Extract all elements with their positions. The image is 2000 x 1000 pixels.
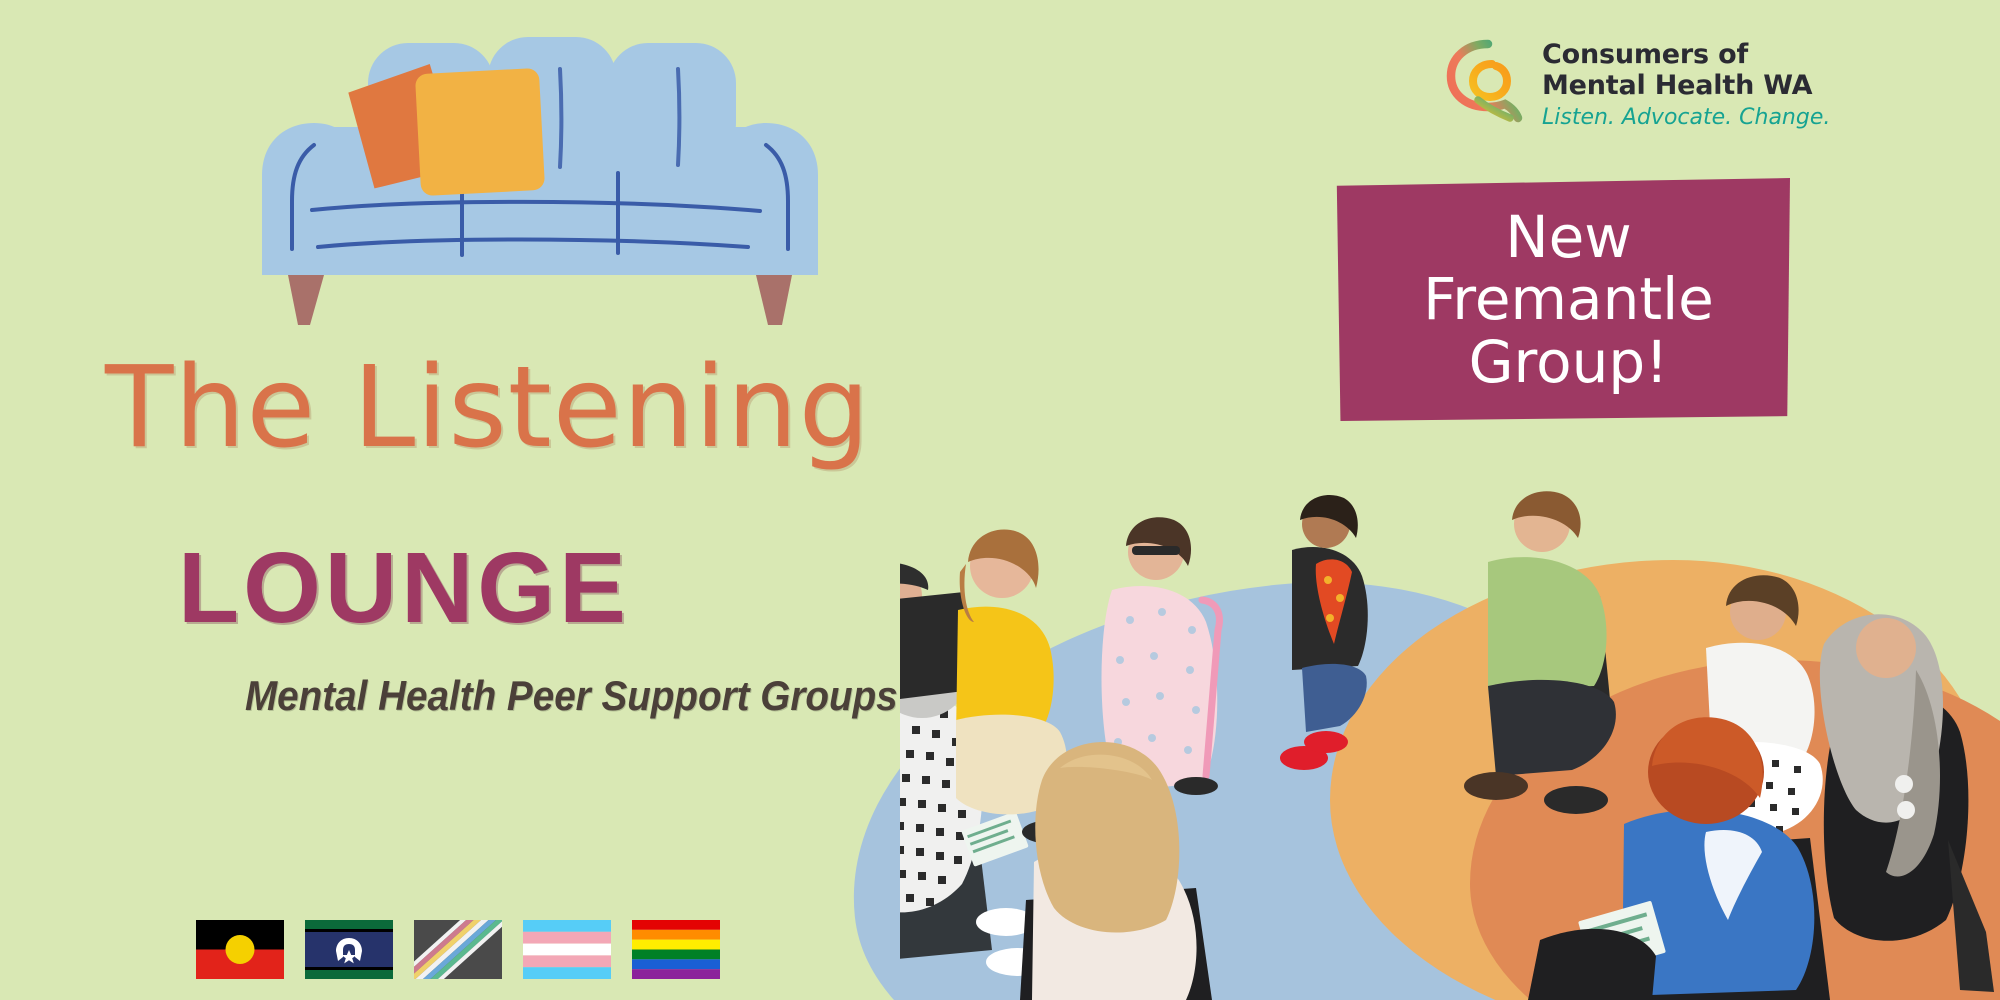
page-title-line-2: LOUNGE [178, 538, 630, 638]
rainbow-pride-flag [632, 920, 720, 979]
badge-line-3: Group! [1469, 331, 1669, 393]
person-green-tee [1464, 491, 1616, 814]
new-group-badge-text: New Fremantle Group! [1335, 178, 1790, 421]
page-subtitle: Mental Health Peer Support Groups [245, 672, 898, 720]
organisation-name: Consumers of Mental Health WA [1542, 40, 1812, 102]
badge-line-1: New [1505, 206, 1632, 268]
person-red-scarf [1280, 495, 1368, 770]
badge-line-2: Fremantle [1423, 268, 1714, 330]
poster-canvas: The Listening LOUNGE Mental Health Peer … [0, 0, 2000, 1000]
new-group-badge: New Fremantle Group! [1335, 178, 1790, 421]
organisation-logo: Consumers of Mental Health WA Listen. Ad… [1442, 34, 1792, 134]
torres-strait-islander-flag [305, 920, 393, 979]
organisation-name-line-1: Consumers of [1542, 40, 1812, 71]
aboriginal-flag [196, 920, 284, 979]
speech-bubble-q-icon [1442, 34, 1534, 126]
person-grey-hair-black-top [1820, 614, 1994, 992]
inclusion-flags [196, 920, 720, 979]
peer-support-group-photo [900, 480, 2000, 1000]
organisation-name-line-2: Mental Health WA [1542, 71, 1812, 102]
transgender-pride-flag [523, 920, 611, 979]
disability-pride-flag [414, 920, 502, 979]
page-title-line-1: The Listening [105, 352, 871, 464]
sofa-icon [240, 25, 840, 325]
organisation-tagline: Listen. Advocate. Change. [1542, 105, 1830, 130]
